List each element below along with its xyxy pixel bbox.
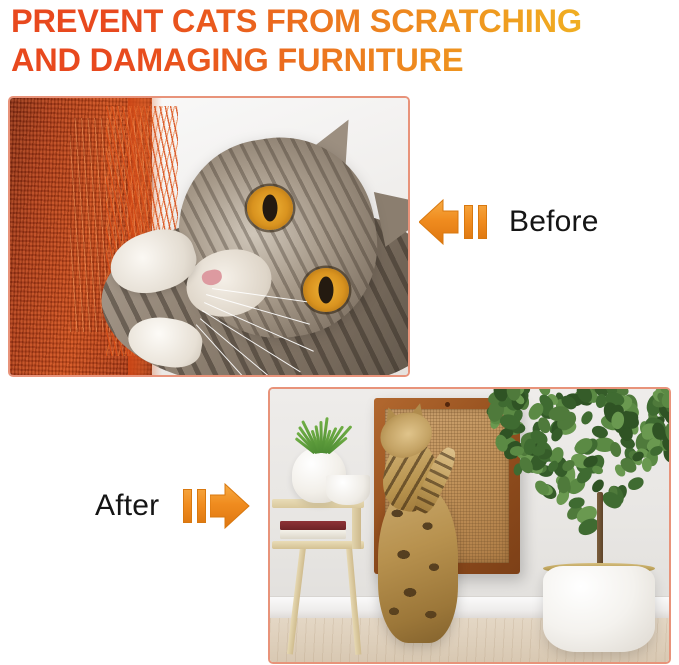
grass-plant	[296, 417, 344, 453]
motion-bar-4	[197, 489, 206, 523]
cat-pupil-lower	[319, 277, 334, 304]
ficus-trunk	[597, 492, 603, 570]
arrow-motion-bars-after	[183, 489, 206, 523]
after-callout: After	[95, 482, 250, 530]
shelf-lower-board	[272, 541, 364, 549]
arrow-left-icon	[419, 198, 459, 246]
arrow-motion-bars	[464, 205, 487, 239]
book-upper	[280, 521, 346, 530]
motion-bar-1	[464, 205, 473, 239]
before-photo	[8, 96, 410, 377]
cat-eye-lower	[303, 268, 349, 312]
ficus-leaf	[610, 442, 621, 457]
cat-eye-upper	[247, 186, 293, 230]
before-label: Before	[509, 205, 599, 239]
arrow-right-icon	[210, 482, 250, 530]
before-callout: Before	[419, 198, 599, 246]
cat-pupil-upper	[263, 195, 278, 222]
before-scene	[10, 98, 408, 375]
after-scene	[270, 389, 669, 662]
ficus-foliage	[485, 387, 671, 533]
page-headline: PREVENT CATS FROM SCRATCHING AND DAMAGIN…	[11, 2, 671, 80]
motion-bar-2	[478, 205, 487, 239]
after-photo	[268, 387, 671, 664]
ficus-white-planter	[543, 566, 655, 652]
ficus-leaf	[578, 410, 595, 427]
board-mount-screw	[445, 402, 450, 407]
book-lower	[280, 530, 346, 539]
motion-bar-3	[183, 489, 192, 523]
after-label: After	[95, 489, 159, 523]
ficus-leaf	[641, 458, 652, 473]
ficus-leaf	[569, 496, 585, 508]
white-bowl	[326, 475, 370, 505]
ficus-leaf	[627, 477, 645, 491]
